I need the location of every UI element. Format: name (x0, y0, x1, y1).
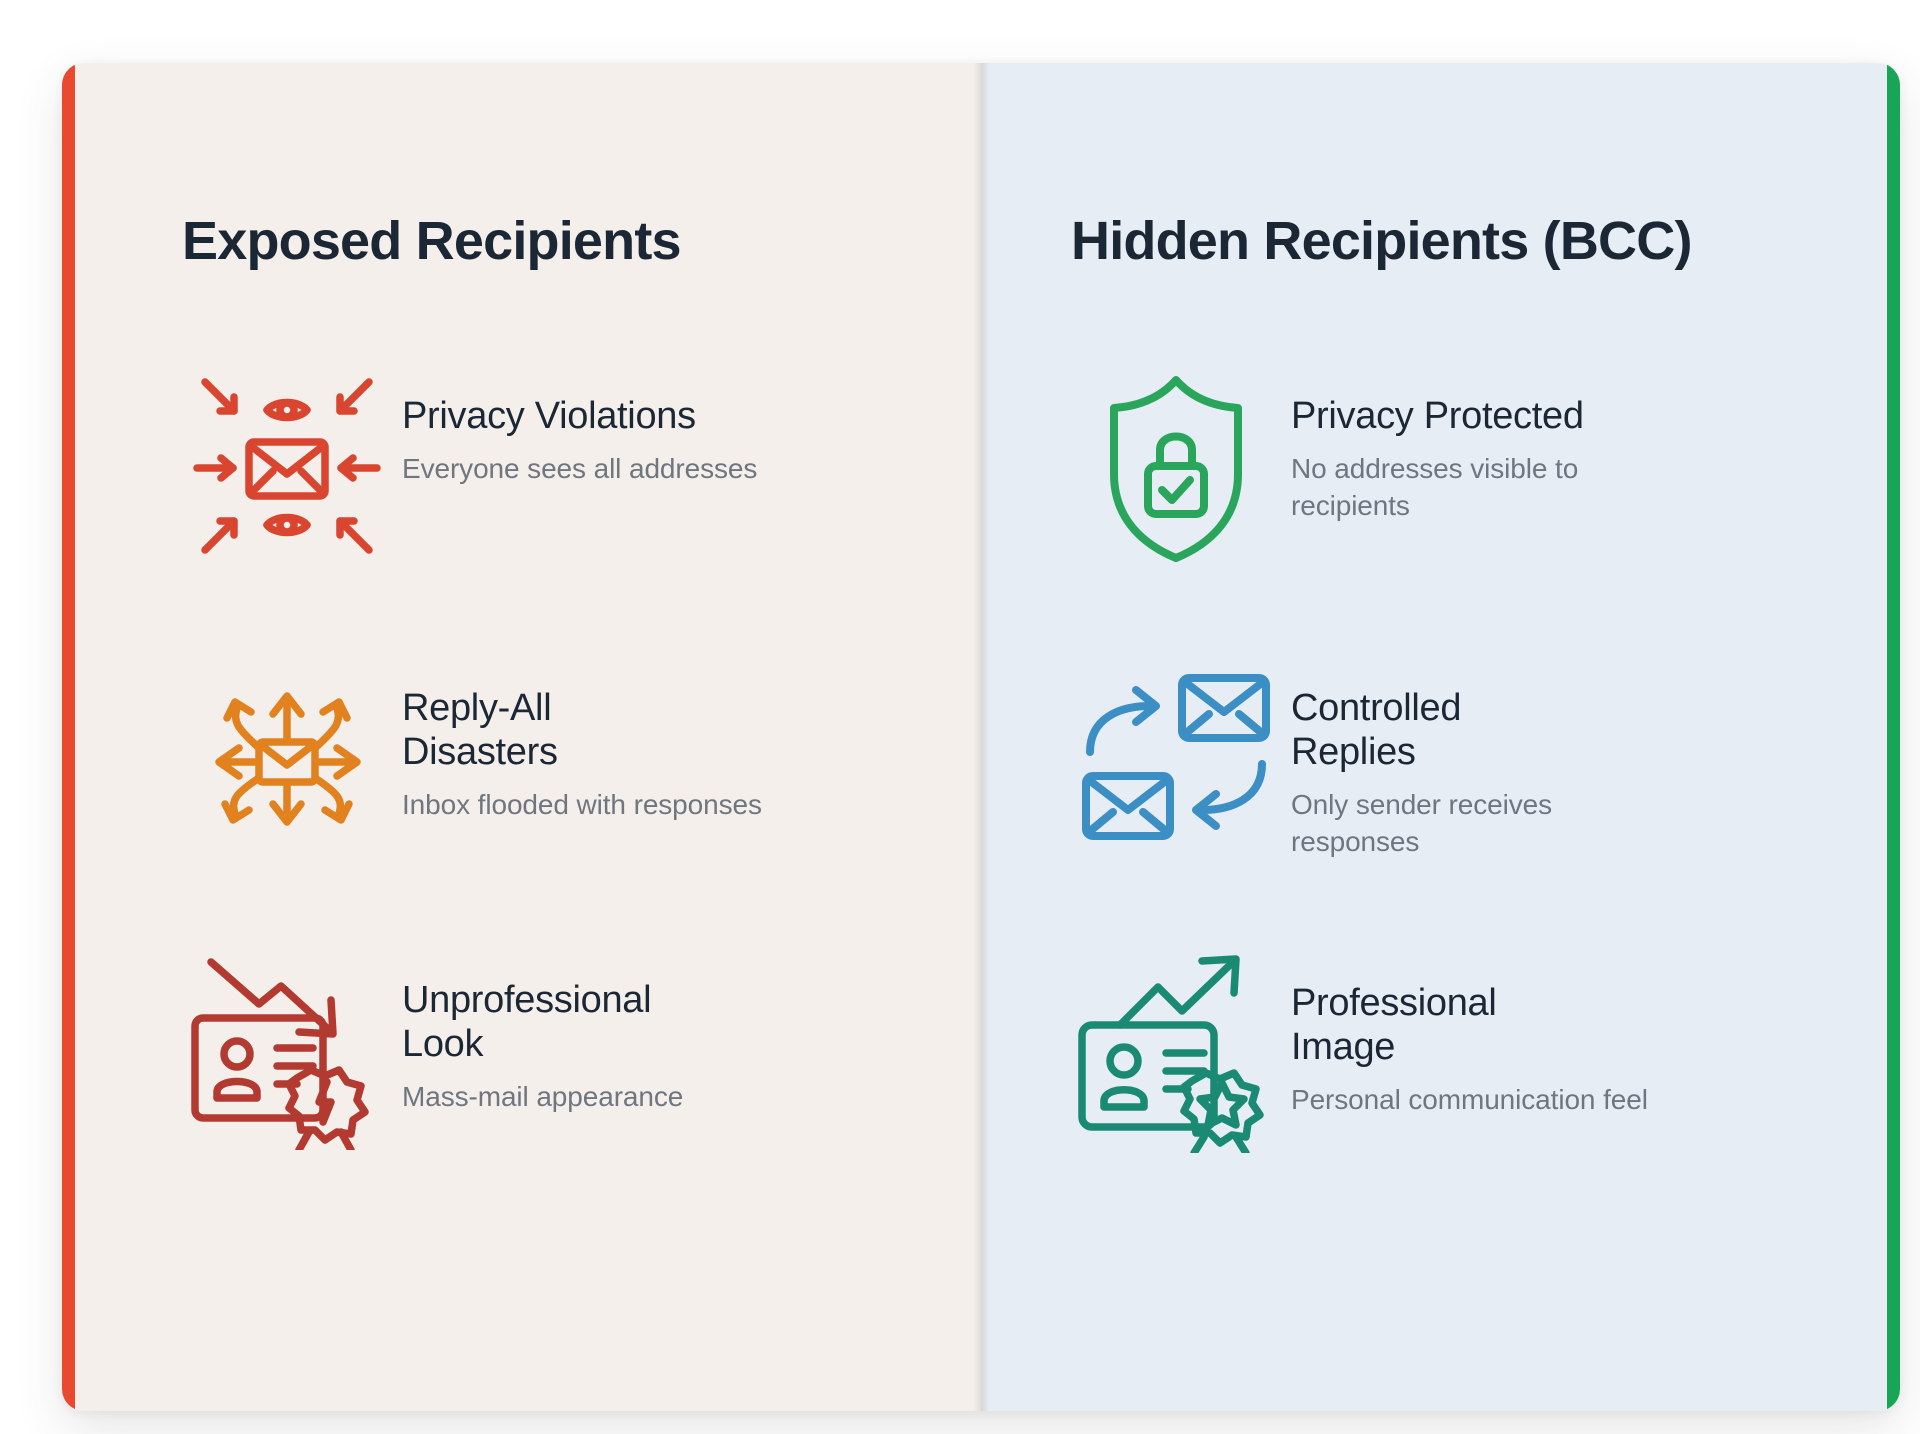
list-item: Unprofessional Look Mass-mail appearance (172, 950, 911, 1150)
panel-exposed-recipients: Exposed Recipients (62, 63, 981, 1411)
shield-lock-check-icon (1061, 366, 1291, 566)
list-item: Privacy Violations Everyone sees all add… (172, 366, 911, 566)
envelope-exposed-eyes-icon (172, 366, 402, 566)
id-card-broken-badge-down-arrow-icon (172, 950, 402, 1150)
list-item: Professional Image Personal communicatio… (1061, 953, 1840, 1153)
list-item-title: Professional Image (1291, 981, 1840, 1069)
list-item-description: Only sender receives responses (1291, 786, 1671, 861)
right-accent-bar (1887, 63, 1900, 1411)
id-card-award-badge-up-arrow-icon (1061, 953, 1291, 1153)
list-item-description: No addresses visible to recipients (1291, 450, 1671, 525)
infographic-canvas: Exposed Recipients (0, 0, 1920, 1434)
comparison-card: Exposed Recipients (62, 63, 1900, 1411)
left-panel-title: Exposed Recipients (172, 213, 911, 270)
list-item-title: Controlled Replies (1291, 686, 1840, 774)
right-panel-title: Hidden Recipients (BCC) (1061, 213, 1840, 270)
list-item-description: Personal communication feel (1291, 1081, 1671, 1119)
panel-hidden-recipients: Hidden Recipients (BCC) Privacy Protecte… (981, 63, 1900, 1411)
list-item-title: Privacy Protected (1291, 394, 1840, 438)
list-item-description: Mass-mail appearance (402, 1078, 762, 1116)
left-accent-bar (62, 63, 75, 1411)
envelope-reply-all-burst-icon (172, 658, 402, 858)
two-envelopes-reply-arrows-icon (1061, 658, 1291, 858)
list-item-title: Privacy Violations (402, 394, 911, 438)
list-item-description: Inbox flooded with responses (402, 786, 762, 824)
list-item-title: Unprofessional Look (402, 978, 911, 1066)
list-item: Privacy Protected No addresses visible t… (1061, 366, 1840, 566)
list-item: Controlled Replies Only sender receives … (1061, 658, 1840, 861)
list-item-title: Reply-All Disasters (402, 686, 911, 774)
list-item: Reply-All Disasters Inbox flooded with r… (172, 658, 911, 858)
list-item-description: Everyone sees all addresses (402, 450, 762, 488)
